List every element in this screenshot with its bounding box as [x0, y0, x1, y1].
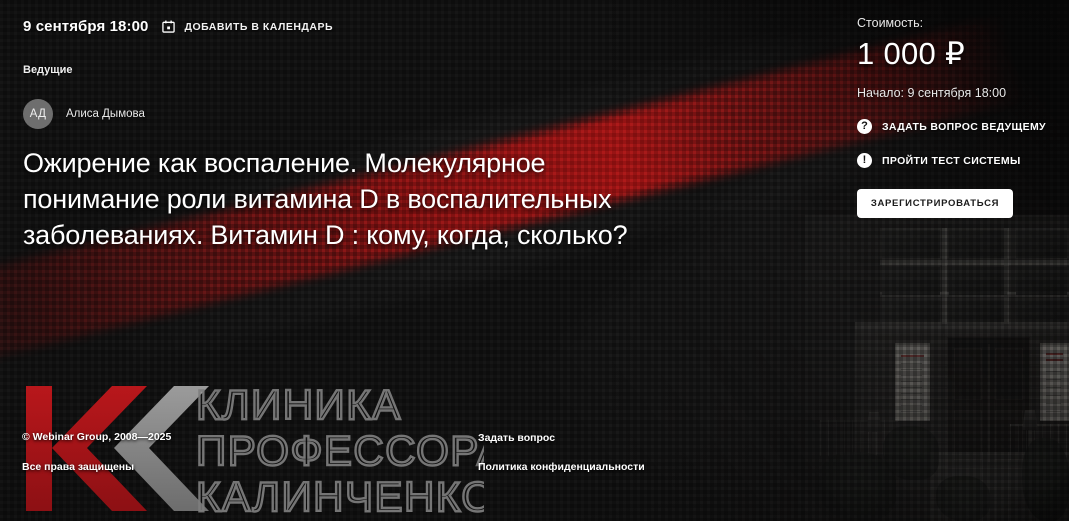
rights-text: Все права защищены [22, 461, 134, 473]
sidebar: Стоимость: 1 000 ₽ Начало: 9 сентября 18… [857, 16, 1057, 218]
ask-host-question-label: ЗАДАТЬ ВОПРОС ВЕДУЩЕМУ [882, 121, 1046, 133]
add-to-calendar-label: ДОБАВИТЬ В КАЛЕНДАРЬ [184, 21, 333, 33]
event-datetime: 9 сентября 18:00 [23, 18, 148, 35]
ask-question-link[interactable]: Задать вопрос [478, 432, 555, 444]
add-to-calendar-button[interactable]: ДОБАВИТЬ В КАЛЕНДАРЬ [162, 20, 333, 33]
webinar-landing-page: КЛИНИКА ПРОФЕССОРА КАЛИНЧЕНКО 9 сентября… [0, 0, 1069, 521]
price-value: 1 000 ₽ [857, 36, 1057, 72]
hosts-label: Ведущие [23, 64, 72, 76]
calendar-icon [162, 20, 175, 33]
system-test-link[interactable]: ! ПРОЙТИ ТЕСТ СИСТЕМЫ [857, 153, 1057, 168]
system-test-label: ПРОЙТИ ТЕСТ СИСТЕМЫ [882, 155, 1021, 167]
avatar: АД [23, 99, 53, 129]
register-button[interactable]: ЗАРЕГИСТРИРОВАТЬСЯ [857, 189, 1013, 218]
ask-host-question-link[interactable]: ? ЗАДАТЬ ВОПРОС ВЕДУЩЕМУ [857, 119, 1057, 134]
page-content: 9 сентября 18:00 ДОБАВИТЬ В КАЛЕНДАРЬ Ве… [0, 0, 1069, 521]
date-row: 9 сентября 18:00 ДОБАВИТЬ В КАЛЕНДАРЬ [23, 18, 333, 35]
host-name: Алиса Дымова [66, 108, 145, 120]
page-title: Ожирение как воспаление. Молекулярное по… [23, 146, 663, 254]
copyright-text: © Webinar Group, 2008—2025 [22, 431, 171, 443]
start-time-label: Начало: 9 сентября 18:00 [857, 86, 1057, 100]
host-item[interactable]: АД Алиса Дымова [23, 99, 145, 129]
privacy-policy-link[interactable]: Политика конфиденциальности [478, 461, 645, 473]
exclamation-mark-icon: ! [857, 153, 872, 168]
question-mark-icon: ? [857, 119, 872, 134]
cost-label: Стоимость: [857, 16, 1057, 30]
